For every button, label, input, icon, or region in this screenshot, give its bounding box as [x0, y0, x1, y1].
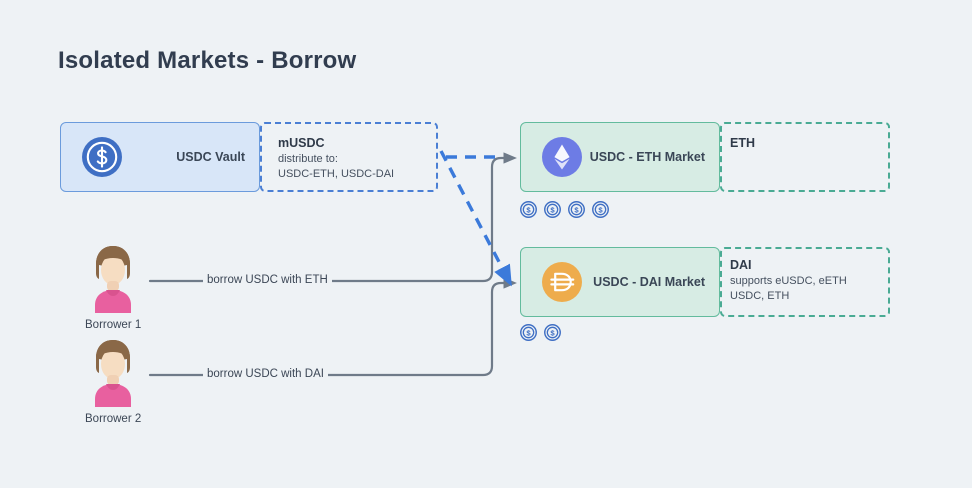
eth-note-title: ETH: [730, 135, 755, 152]
svg-text:$: $: [526, 206, 531, 215]
usdc-coin-icon: $: [544, 324, 561, 341]
eth-note: ETH: [730, 135, 755, 152]
usdc-coin-icon: $: [592, 201, 609, 218]
dai-market-coin-row: $ $: [520, 324, 561, 341]
borrower-2[interactable]: Borrower 2: [85, 337, 141, 425]
svg-text:$: $: [526, 329, 531, 338]
usdc-dai-market-box[interactable]: USDC - DAI Market: [520, 247, 720, 317]
usdc-vault-label: USDC Vault: [176, 150, 245, 164]
dai-note-line-2: USDC, ETH: [730, 289, 847, 304]
eth-market-coin-row: $ $ $ $: [520, 201, 609, 218]
edge-label-borrow-usdc-with-eth: borrow USDC with ETH: [203, 274, 332, 286]
wire-borrower2-to-dai-market: [150, 283, 513, 375]
eth-collateral-box: [720, 122, 890, 192]
musdc-note: mUSDC distribute to: USDC-ETH, USDC-DAI: [278, 135, 394, 182]
borrower-1[interactable]: Borrower 1: [85, 243, 141, 331]
dai-note: DAI supports eUSDC, eETH USDC, ETH: [730, 257, 847, 304]
dai-note-title: DAI: [730, 257, 847, 274]
musdc-note-title: mUSDC: [278, 135, 394, 152]
person-avatar-icon: [85, 243, 141, 313]
dai-icon: [541, 261, 583, 303]
edge-label-borrow-usdc-with-dai: borrow USDC with DAI: [203, 368, 328, 380]
usdc-coin-icon: $: [520, 324, 537, 341]
usdc-dai-market-label: USDC - DAI Market: [593, 275, 705, 289]
usdc-vault-box[interactable]: USDC Vault: [60, 122, 260, 192]
usdc-eth-market-label: USDC - ETH Market: [590, 150, 705, 164]
person-avatar-icon: [85, 337, 141, 407]
musdc-note-line-1: distribute to:: [278, 152, 394, 167]
svg-text:$: $: [550, 206, 555, 215]
svg-text:$: $: [598, 206, 603, 215]
dai-note-line-1: supports eUSDC, eETH: [730, 274, 847, 289]
usdc-coin-icon: [81, 136, 123, 178]
usdc-coin-icon: $: [544, 201, 561, 218]
borrower-1-label: Borrower 1: [85, 319, 141, 331]
svg-text:$: $: [550, 329, 555, 338]
usdc-coin-icon: $: [520, 201, 537, 218]
ethereum-icon: [541, 136, 583, 178]
borrower-2-label: Borrower 2: [85, 413, 141, 425]
usdc-coin-icon: $: [568, 201, 585, 218]
wire-musdc-to-dai-market: [441, 151, 509, 281]
diagram-canvas: Isolated Markets - Borrow: [0, 0, 972, 488]
usdc-eth-market-box[interactable]: USDC - ETH Market: [520, 122, 720, 192]
svg-text:$: $: [574, 206, 579, 215]
musdc-note-line-2: USDC-ETH, USDC-DAI: [278, 167, 394, 182]
page-title: Isolated Markets - Borrow: [58, 47, 356, 75]
